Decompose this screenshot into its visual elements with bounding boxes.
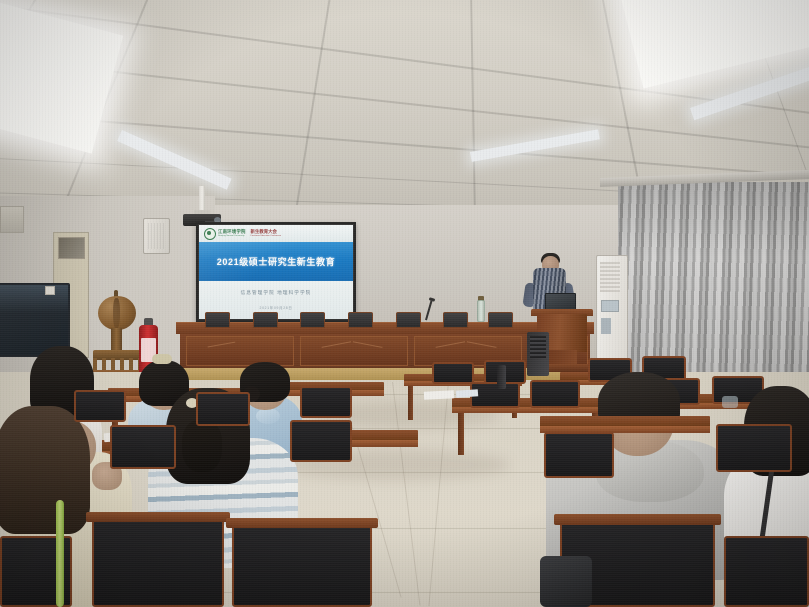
- light-switch[interactable]: [45, 286, 55, 295]
- slide-subtitle: 信息管理学院 地理科学学院: [241, 290, 312, 296]
- wall-speaker: [143, 218, 170, 254]
- amplifier-grill: [530, 336, 546, 358]
- thermos-bottle: [497, 365, 506, 389]
- chair[interactable]: [290, 420, 352, 462]
- ceiling-light-panel: [0, 0, 123, 154]
- paper-sheet: [424, 390, 454, 400]
- eyeglasses-icon: [722, 396, 738, 408]
- chair[interactable]: [432, 362, 474, 384]
- water-bottle: [477, 300, 485, 322]
- audience-5-bow: [256, 408, 280, 424]
- slide-title: 2021级硕士研究生新生教育: [217, 255, 335, 268]
- chair[interactable]: [544, 432, 614, 478]
- globe-stem: [111, 328, 122, 352]
- university-logo-icon: [204, 228, 216, 240]
- ceiling-light-panel: [615, 0, 809, 88]
- chair[interactable]: [110, 425, 176, 469]
- head-table-chair[interactable]: [348, 312, 373, 328]
- chair[interactable]: [196, 392, 250, 426]
- globe-on-stand: [98, 296, 136, 330]
- wall-vent-icon: [0, 206, 24, 233]
- chair[interactable]: [232, 524, 372, 607]
- backpack: [540, 556, 592, 607]
- slide-date: 2021年09月28日: [260, 305, 293, 310]
- chair[interactable]: [716, 424, 792, 472]
- chair[interactable]: [92, 518, 224, 607]
- air-conditioner-grill: [600, 262, 620, 292]
- slide-logo-en: Nanjing Normal University: [218, 235, 246, 237]
- head-table-chair[interactable]: [253, 312, 278, 328]
- chair[interactable]: [530, 380, 580, 408]
- audience-4-ponytail: [182, 420, 222, 472]
- lecture-room-photo: 江南环境学院 Nanjing Normal University 新生教育大会 …: [0, 0, 809, 607]
- green-umbrella-strap: [56, 500, 64, 607]
- audience-2-hair: [0, 406, 90, 534]
- chair[interactable]: [74, 390, 126, 422]
- head-table-panel: [186, 336, 294, 366]
- head-table-chair[interactable]: [396, 312, 421, 328]
- ceiling-light-panel: [117, 130, 232, 190]
- hair-clip: [152, 354, 172, 364]
- chair[interactable]: [300, 386, 352, 418]
- chair[interactable]: [724, 536, 809, 607]
- head-table-chair[interactable]: [300, 312, 325, 328]
- door-window: [58, 237, 85, 259]
- head-table-chair[interactable]: [488, 312, 513, 328]
- slide-title-band: 2021级硕士研究生新生教育: [199, 242, 353, 281]
- air-conditioner-badge: [601, 318, 611, 334]
- slide-logo-red-en: Freshman Education Conference: [251, 235, 282, 237]
- presenter-laptop[interactable]: [545, 293, 576, 310]
- air-conditioner-panel[interactable]: [601, 300, 619, 312]
- slide-logo-bar: 江南环境学院 Nanjing Normal University 新生教育大会 …: [199, 225, 353, 242]
- head-table-chair[interactable]: [205, 312, 230, 328]
- projection-screen: 江南环境学院 Nanjing Normal University 新生教育大会 …: [199, 225, 353, 319]
- head-table-chair[interactable]: [443, 312, 468, 328]
